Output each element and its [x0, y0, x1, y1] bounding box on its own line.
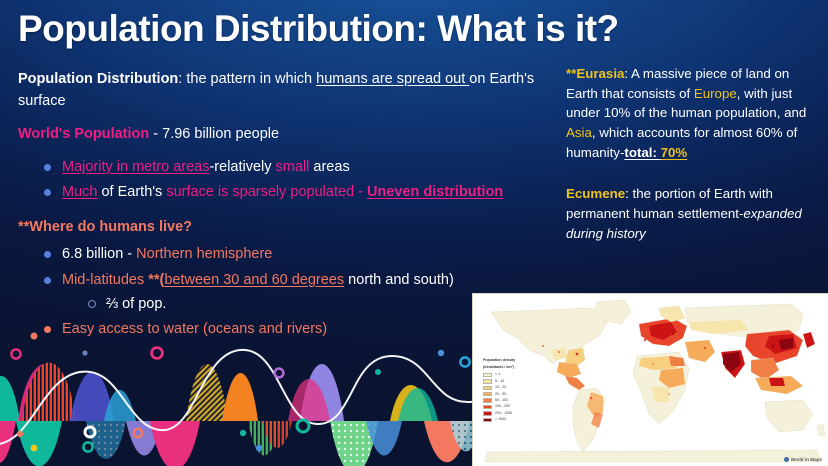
- legend-row: > 1000: [483, 417, 515, 422]
- eurasia-total-value: 70%: [661, 145, 688, 160]
- eurasia-stars: **: [566, 66, 576, 81]
- definition-underlined: humans are spread out: [316, 71, 469, 87]
- where-b1-part-2: Northern hemisphere: [136, 246, 272, 262]
- legend-label: 10 - 20: [495, 385, 506, 390]
- definition-term: Population Distribution: [18, 71, 178, 87]
- bullet-1-part-3: areas: [309, 159, 349, 175]
- eurasia-term: Eurasia: [576, 66, 624, 81]
- ecumene-paragraph: Ecumene: the portion of Earth with perma…: [566, 184, 816, 243]
- where-b1-part-0: 6.8 billion: [62, 246, 123, 262]
- world-population-line: World's Population - 7.96 billion people: [18, 123, 543, 145]
- legend-label: > 1000: [495, 417, 506, 422]
- legend-label: < 1: [495, 372, 500, 377]
- legend-swatch: [483, 418, 492, 422]
- world-population-label: World's Population: [18, 126, 149, 142]
- bullet-1-part-1: -relatively: [209, 159, 275, 175]
- page-title: Population Distribution: What is it?: [18, 8, 619, 50]
- legend-row: 200 - 1000: [483, 411, 515, 416]
- distribution-bullet-list: Majority in metro areas-relatively small…: [18, 157, 543, 205]
- legend-row: 100 - 200: [483, 404, 515, 409]
- right-content-column: **Eurasia: A massive piece of land on Ea…: [566, 64, 816, 243]
- bullet-1-part-2: small: [276, 159, 310, 175]
- where-heading: **Where do humans live?: [18, 216, 543, 238]
- where-b1-part-1: -: [123, 246, 136, 262]
- eurasia-total-label: total:: [624, 145, 660, 160]
- globe-icon: [784, 457, 789, 462]
- legend-swatch: [483, 373, 492, 377]
- legend-swatch: [483, 398, 492, 402]
- legend-swatch: [483, 392, 492, 396]
- bullet-1-part-0: Majority in metro areas: [62, 159, 209, 175]
- sub-bullet-list: ⅔ of pop.: [62, 294, 543, 316]
- legend-label: 5 - 10: [495, 379, 504, 384]
- list-item: Easy access to water (oceans and rivers): [18, 319, 543, 341]
- legend-title-line2: (inhabitants / km²): [483, 365, 515, 369]
- legend-label: 100 - 200: [495, 404, 510, 409]
- list-item: Mid-latitudes **(between 30 and 60 degre…: [18, 270, 543, 316]
- where-bullet-list: 6.8 billion - Northern hemisphere Mid-la…: [18, 244, 543, 341]
- bullet-2-part-1: of Earth's: [97, 184, 166, 200]
- legend-label: 50 - 100: [495, 398, 508, 403]
- sub-bullet-label: ⅔ of pop.: [106, 296, 166, 312]
- list-item: Much of Earth's surface is sparsely popu…: [18, 182, 543, 204]
- list-item: 6.8 billion - Northern hemisphere: [18, 244, 543, 266]
- population-density-map[interactable]: Population density (inhabitants / km²) <…: [472, 293, 828, 466]
- where-b2-part-2: between 30 and 60 degrees: [164, 272, 344, 288]
- world-map-svg: [473, 294, 828, 466]
- slide-canvas: Population Distribution: What is it? Pop…: [0, 0, 828, 466]
- legend-row: < 1: [483, 372, 515, 377]
- definition-paragraph: Population Distribution: the pattern in …: [18, 68, 543, 112]
- legend-label: 200 - 1000: [495, 411, 512, 416]
- legend-label: 20 - 50: [495, 392, 506, 397]
- bullet-2-part-0: Much: [62, 184, 97, 200]
- water-bullet-label: Easy access to water (oceans and rivers): [62, 321, 327, 337]
- map-credit: World in Maps: [784, 457, 822, 462]
- where-b2-part-1: **(: [148, 272, 164, 288]
- legend-row: 20 - 50: [483, 392, 515, 397]
- definition-text-a: the pattern in which: [186, 71, 316, 87]
- left-content-column: Population Distribution: the pattern in …: [18, 68, 543, 347]
- column-spacer: [566, 162, 816, 184]
- legend-swatch: [483, 405, 492, 409]
- bullet-2-part-2: surface is sparsely populated -: [166, 184, 367, 200]
- legend-swatch: [483, 379, 492, 383]
- legend-row: 50 - 100: [483, 398, 515, 403]
- where-b2-part-0: Mid-latitudes: [62, 272, 148, 288]
- list-item: ⅔ of pop.: [62, 294, 543, 316]
- eurasia-asia: Asia: [566, 125, 592, 140]
- bullet-2-part-3: Uneven distribution: [367, 184, 503, 200]
- map-credit-label: World in Maps: [791, 457, 822, 462]
- ecumene-term: Ecumene: [566, 186, 625, 201]
- legend-row: 10 - 20: [483, 385, 515, 390]
- list-item: Majority in metro areas-relatively small…: [18, 157, 543, 179]
- eurasia-europe: Europe: [694, 86, 737, 101]
- legend-swatch: [483, 386, 492, 390]
- world-population-value: - 7.96 billion people: [149, 126, 279, 142]
- legend-swatch: [483, 411, 492, 415]
- where-b2-part-3: north and south): [344, 272, 454, 288]
- eurasia-paragraph: **Eurasia: A massive piece of land on Ea…: [566, 64, 816, 162]
- legend-title-line1: Population density: [483, 358, 515, 362]
- map-legend: Population density (inhabitants / km²) <…: [483, 358, 515, 424]
- legend-row: 5 - 10: [483, 379, 515, 384]
